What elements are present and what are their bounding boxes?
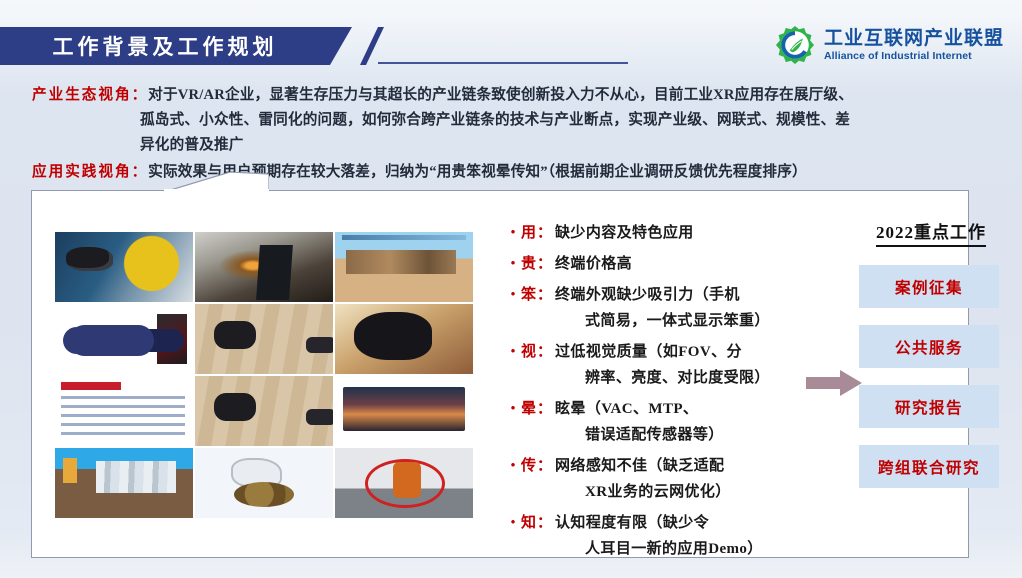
bullet-dot-icon: •: [505, 396, 521, 422]
logo-cn-name: 工业互联网产业联盟: [824, 29, 1004, 48]
photo-vr-parts-on-floor: [195, 304, 333, 374]
right-arrow-icon: [806, 370, 862, 396]
photo-street-laundry: [55, 448, 193, 518]
bullet-dot-icon: •: [505, 510, 521, 536]
paragraph-1-line-2: 孤岛式、小众性、雷同化的问题，如何弥合跨产业链条的技术与产业断点，实现产业级、网…: [32, 108, 997, 133]
bullet-text: 终端价格高: [553, 251, 632, 277]
bullet-text: 网络感知不佳（缺乏适配XR业务的云网优化）: [553, 453, 731, 505]
bullet-text-line-1: 眩晕（VAC、MTP、: [555, 401, 698, 417]
bullet-text: 认知程度有限（缺少令人耳目一新的应用Demo）: [553, 510, 763, 562]
key-work-column: 2022重点工作 案例征集 公共服务 研究报告 跨组联合研究: [859, 218, 999, 488]
bullet-text: 缺少内容及特色应用: [553, 220, 694, 246]
title-slash-decoration: [360, 27, 384, 65]
bullet-text-line-2: XR业务的云网优化）: [555, 479, 731, 505]
paragraph-1-line-3: 异化的普及推广: [32, 133, 997, 158]
bullet-dot-icon: •: [505, 339, 521, 365]
gear-leaf-logo-icon: [774, 24, 816, 66]
page-title: 工作背景及工作规划: [0, 27, 330, 65]
bullet-dot-icon: •: [505, 220, 521, 246]
bullet-key: 贵：: [521, 251, 553, 277]
logo-wordmark: 工业互联网产业联盟 Alliance of Industrial Interne…: [824, 29, 1004, 62]
bullet-key: 晕：: [521, 396, 553, 422]
paragraph-2-lead: 应用实践视角：: [32, 164, 148, 180]
bullet-text-line-2: 人耳目一新的应用Demo）: [555, 536, 763, 562]
list-item: • 用： 缺少内容及特色应用: [505, 220, 805, 246]
brand-logo: 工业互联网产业联盟 Alliance of Industrial Interne…: [774, 24, 1004, 66]
bullet-text: 过低视觉质量（如FOV、分辨率、亮度、对比度受限）: [553, 339, 770, 391]
list-item: • 知： 认知程度有限（缺少令人耳目一新的应用Demo）: [505, 510, 805, 562]
photo-shopping-page-price: [55, 376, 193, 446]
vr-ar-image-collage: [55, 232, 473, 518]
paragraph-industry-ecosystem: 产业生态视角：对于VR/AR企业，显著生存压力与其超长的产业链条致使创新投入力不…: [32, 83, 997, 158]
list-item: • 传： 网络感知不佳（缺乏适配XR业务的云网优化）: [505, 453, 805, 505]
bullet-dot-icon: •: [505, 282, 521, 308]
photo-vive-headset-and-pc: [55, 304, 193, 374]
bullet-text-line-1: 终端外观缺少吸引力（手机: [555, 287, 740, 303]
bullet-text-line-1: 过低视觉质量（如FOV、分: [555, 344, 742, 360]
bullet-key: 知：: [521, 510, 553, 536]
list-item: • 贵： 终端价格高: [505, 251, 805, 277]
bullet-dot-icon: •: [505, 453, 521, 479]
work-box-research-report[interactable]: 研究报告: [859, 385, 999, 428]
bullet-text-line-2: 错误适配传感器等）: [555, 422, 724, 448]
bullet-dot-icon: •: [505, 251, 521, 277]
list-item: • 视： 过低视觉质量（如FOV、分辨率、亮度、对比度受限）: [505, 339, 805, 391]
bullet-text-line-1: 网络感知不佳（缺乏适配: [555, 458, 724, 474]
bullet-key: 视：: [521, 339, 553, 365]
photo-war-game-scene: [195, 232, 333, 302]
bullet-key: 用：: [521, 220, 553, 246]
bullet-text: 终端外观缺少吸引力（手机式简易，一体式显示笨重）: [553, 282, 770, 334]
photo-desert-game-scene: [335, 232, 473, 302]
photo-vr-accessories: [195, 376, 333, 446]
bullet-text-line-2: 式简易，一体式显示笨重）: [555, 308, 770, 334]
work-box-case-collection[interactable]: 案例征集: [859, 265, 999, 308]
paragraph-1-lead: 产业生态视角：: [32, 87, 148, 103]
bullet-text-line-1: 认知程度有限（缺少令: [555, 515, 709, 531]
title-underline-rule: [378, 62, 628, 64]
pain-point-bullet-list: • 用： 缺少内容及特色应用 • 贵： 终端价格高 • 笨： 终端外观缺少吸引力…: [505, 220, 805, 567]
list-item: • 笨： 终端外观缺少吸引力（手机式简易，一体式显示笨重）: [505, 282, 805, 334]
bullet-text-line-2: 辨率、亮度、对比度受限）: [555, 365, 770, 391]
bullet-key: 传：: [521, 453, 553, 479]
photo-vr-user-indoor: [335, 304, 473, 374]
photo-room-vr-demo: [335, 448, 473, 518]
photo-snail-cartoon: [195, 448, 333, 518]
bullet-key: 笨：: [521, 282, 553, 308]
callout-tail-icon: [164, 172, 269, 192]
logo-en-name: Alliance of Industrial Internet: [824, 51, 1004, 62]
slide-canvas: 工作背景及工作规划 工业互联网产业联盟 Alliance of Industri…: [0, 0, 1022, 578]
work-box-public-service[interactable]: 公共服务: [859, 325, 999, 368]
photo-monitor-display: [335, 376, 473, 446]
photo-diver-vr-headset: [55, 232, 193, 302]
work-box-joint-research[interactable]: 跨组联合研究: [859, 445, 999, 488]
key-work-title: 2022重点工作: [876, 218, 986, 247]
bullet-text: 眩晕（VAC、MTP、错误适配传感器等）: [553, 396, 724, 448]
content-callout-panel: • 用： 缺少内容及特色应用 • 贵： 终端价格高 • 笨： 终端外观缺少吸引力…: [31, 190, 969, 558]
list-item: • 晕： 眩晕（VAC、MTP、错误适配传感器等）: [505, 396, 805, 448]
paragraph-1-line-1: 对于VR/AR企业，显著生存压力与其超长的产业链条致使创新投入力不从心，目前工业…: [148, 87, 853, 103]
